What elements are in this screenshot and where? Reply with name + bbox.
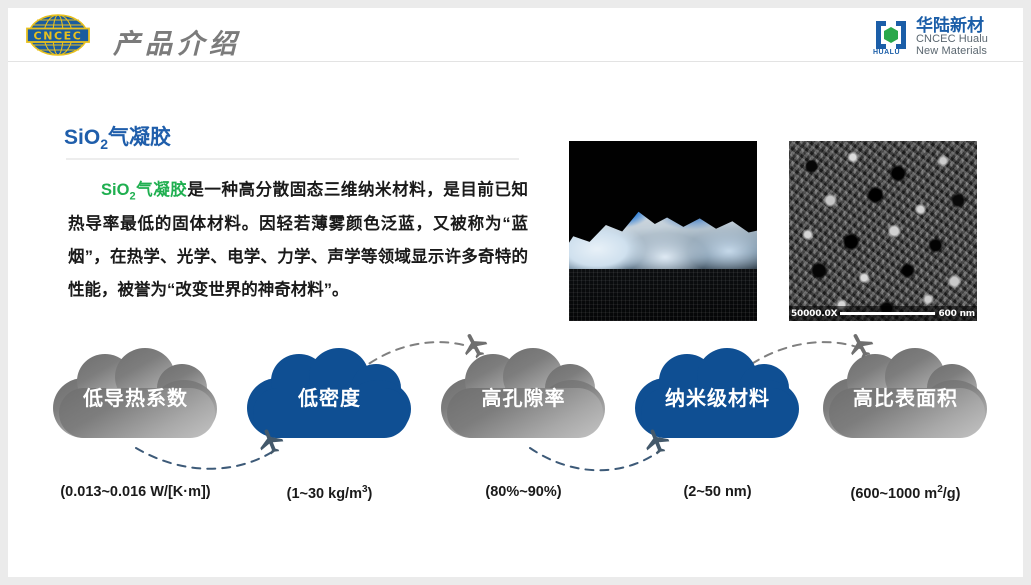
cloud-caption-3: (80%~90%) — [426, 484, 621, 500]
cloud-label-5: 高比表面积 — [823, 382, 988, 411]
cloud-caption-2-main: (1~30 kg/m — [287, 486, 362, 502]
property-cloud-1[interactable]: 低导热系数 (0.013~0.016 W/[K·m]) — [38, 326, 233, 440]
sem-scale-label: 600 nm — [938, 309, 975, 319]
cloud-label-2: 低密度 — [247, 382, 412, 411]
cloud-caption-1: (0.013~0.016 W/[K·m]) — [38, 484, 233, 500]
cncec-hualu-new-materials-logo: HUALU 华陆新材 CNCEC Hualu New Materials — [873, 17, 1009, 57]
cloud-shape-1: 低导热系数 — [53, 348, 218, 440]
cncec-globe-logo: CNCEC — [21, 14, 95, 56]
cloud-label-3: 高孔隙率 — [441, 382, 606, 411]
cloud-caption-2-tail: ) — [368, 486, 373, 502]
photo-fabric-surface — [569, 269, 757, 321]
description-paragraph: SiO2气凝胶是一种高分散固态三维纳米材料，是目前已知热导率最低的固体材料。因轻… — [68, 174, 528, 308]
slide-canvas: CNCEC 产品介绍 HUALU 华陆新材 CNCEC Hualu New Ma… — [8, 8, 1023, 577]
aerogel-sem-micrograph: 50000.0X 600 nm — [789, 141, 977, 321]
property-clouds-row: 低导热系数 (0.013~0.016 W/[K·m]) 低密度 (1~30 kg… — [8, 326, 1023, 526]
cncec-globe-icon: CNCEC — [21, 14, 95, 56]
cloud-caption-2: (1~30 kg/m3) — [232, 484, 427, 502]
slide-header: CNCEC 产品介绍 HUALU 华陆新材 CNCEC Hualu New Ma… — [8, 8, 1023, 61]
cloud-caption-4: (2~50 nm) — [620, 484, 815, 500]
sem-texture — [789, 141, 977, 321]
svg-text:CNCEC: CNCEC — [34, 29, 83, 42]
paragraph-highlight-text: 气凝胶 — [136, 181, 188, 199]
section-title: SiO2气凝胶 — [64, 121, 171, 152]
sem-scale-line — [840, 312, 935, 315]
hualu-logo-text: 华陆新材 CNCEC Hualu New Materials — [916, 17, 988, 57]
cloud-label-4: 纳米级材料 — [635, 382, 800, 411]
section-title-text: 气凝胶 — [108, 126, 171, 149]
cloud-label-1: 低导热系数 — [53, 382, 218, 411]
header-divider — [8, 61, 1023, 62]
paragraph-highlight-formula: SiO — [101, 181, 129, 199]
property-cloud-3[interactable]: 高孔隙率 (80%~90%) — [426, 326, 621, 440]
cloud-shape-3: 高孔隙率 — [441, 348, 606, 440]
property-cloud-5[interactable]: 高比表面积 (600~1000 m2/g) — [808, 326, 1003, 440]
page-title: 产品介绍 — [113, 22, 241, 61]
section-title-divider — [66, 158, 519, 160]
hualu-hexagon-icon — [873, 19, 909, 51]
hualu-english-line2: New Materials — [916, 46, 988, 57]
cloud-caption-5: (600~1000 m2/g) — [808, 484, 1003, 502]
cloud-shape-5: 高比表面积 — [823, 348, 988, 440]
sem-scale-bar: 50000.0X 600 nm — [789, 306, 977, 321]
cloud-caption-5-tail: /g) — [943, 486, 961, 502]
hualu-wordmark: HUALU — [873, 49, 900, 56]
sem-magnification-label: 50000.0X — [791, 309, 837, 319]
flight-path-1 — [136, 448, 272, 469]
aerogel-sample-photo — [569, 141, 757, 321]
cloud-caption-5-main: (600~1000 m — [851, 486, 938, 502]
hualu-english-line1: CNCEC Hualu — [916, 34, 988, 45]
section-title-formula: SiO — [64, 126, 100, 149]
hualu-chinese-name: 华陆新材 — [916, 17, 988, 34]
hualu-mark-icon: HUALU — [873, 19, 909, 55]
flight-path-3 — [530, 448, 658, 470]
section-title-subscript: 2 — [100, 136, 108, 152]
property-cloud-4[interactable]: 纳米级材料 (2~50 nm) — [620, 326, 815, 440]
property-cloud-2[interactable]: 低密度 (1~30 kg/m3) — [232, 326, 427, 440]
